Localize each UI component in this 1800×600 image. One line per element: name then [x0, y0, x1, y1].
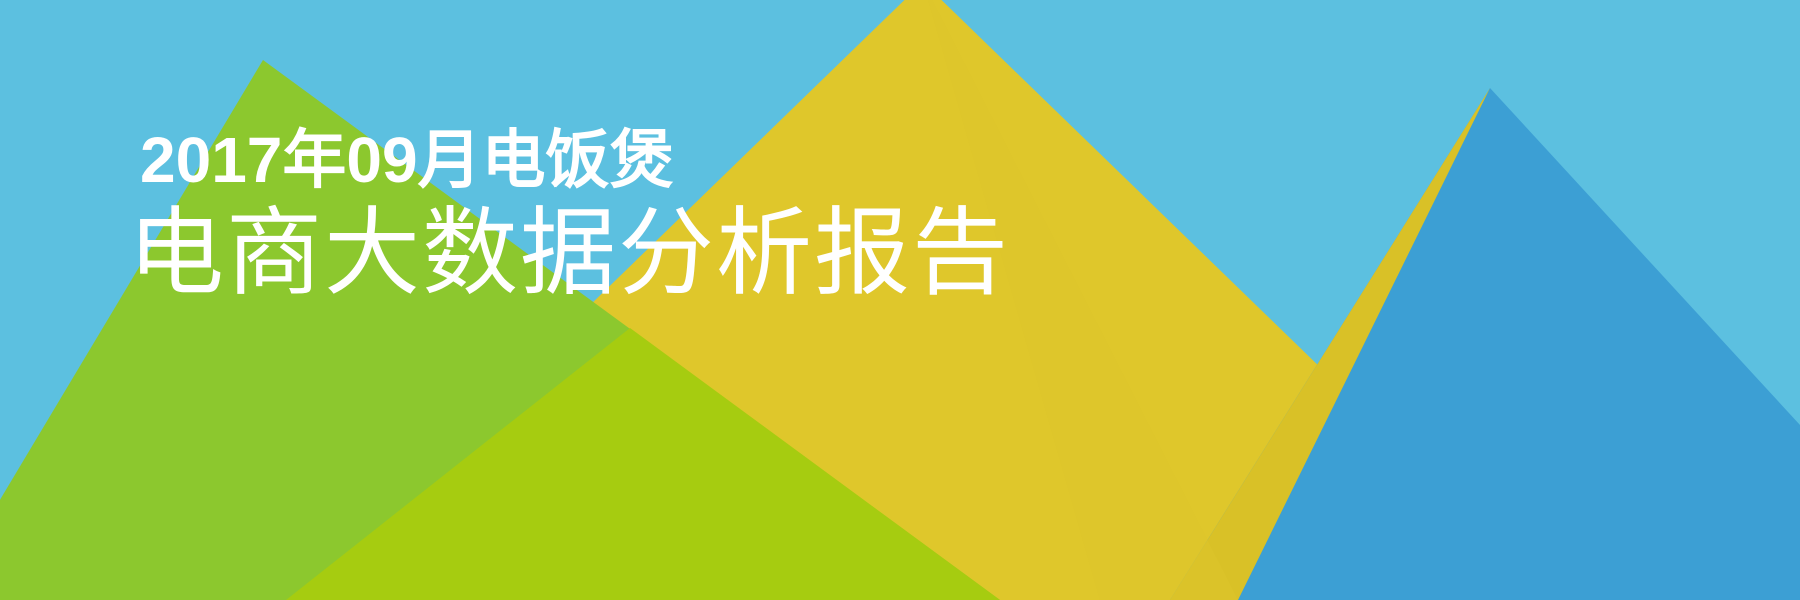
report-cover-banner: 2017年09月电饭煲 电商大数据分析报告 [0, 0, 1800, 600]
banner-title-line-1: 2017年09月电饭煲 [140, 128, 1010, 192]
banner-title-line-2: 电商大数据分析报告 [128, 206, 1010, 302]
banner-title-block: 2017年09月电饭煲 电商大数据分析报告 [128, 128, 1010, 302]
